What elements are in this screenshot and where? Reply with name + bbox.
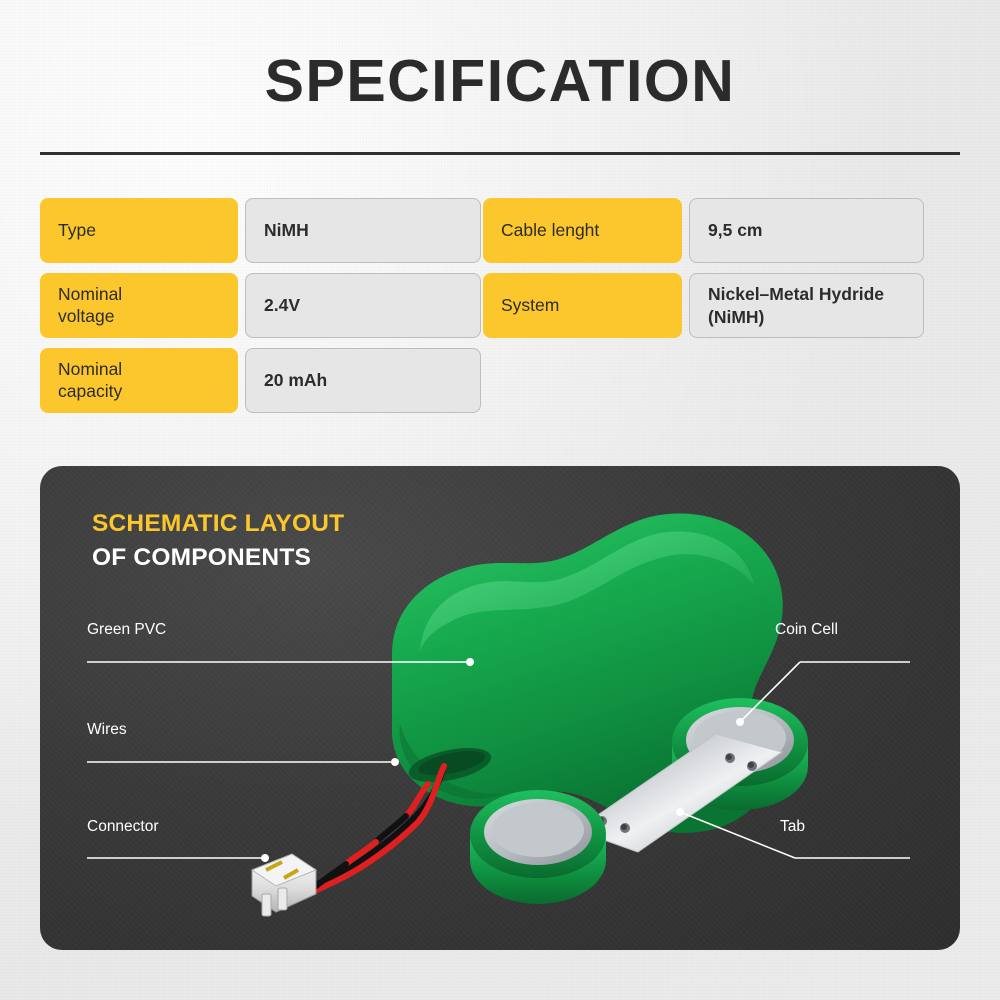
spec-label-system: System [483, 273, 682, 338]
spec-label-type: Type [40, 198, 238, 263]
spec-label-nominal-voltage: Nominal voltage [40, 273, 238, 338]
callout-label-coin-cell: Coin Cell [775, 621, 838, 639]
spec-value-nominal-capacity: 20 mAh [245, 348, 481, 413]
callout-label-tab: Tab [780, 818, 805, 836]
spec-value-system: Nickel–Metal Hydride (NiMH) [689, 273, 924, 338]
callout-label-green-pvc: Green PVC [87, 621, 166, 639]
title-divider [40, 152, 960, 155]
callout-label-connector: Connector [87, 818, 159, 836]
spec-label-nominal-capacity: Nominal capacity [40, 348, 238, 413]
table-row: Nominal capacity 20 mAh [40, 348, 481, 413]
schematic-panel: SCHEMATIC LAYOUT OF COMPONENTS [40, 466, 960, 950]
callout-label-wires: Wires [87, 721, 127, 739]
spec-column-left: Type NiMH Nominal voltage 2.4V Nominal c… [40, 198, 481, 423]
specification-page: SPECIFICATION Type NiMH Nominal voltage … [0, 0, 1000, 1000]
spec-value-type: NiMH [245, 198, 481, 263]
page-title: SPECIFICATION [0, 47, 1000, 115]
spec-value-nominal-voltage: 2.4V [245, 273, 481, 338]
table-row: Type NiMH [40, 198, 481, 263]
table-row: Nominal voltage 2.4V [40, 273, 481, 338]
callout-leader-lines [40, 466, 960, 950]
spec-value-cable-length: 9,5 cm [689, 198, 924, 263]
spec-column-right: Cable lenght 9,5 cm System Nickel–Metal … [483, 198, 924, 348]
table-row: Cable lenght 9,5 cm [483, 198, 924, 263]
spec-label-cable-length: Cable lenght [483, 198, 682, 263]
table-row: System Nickel–Metal Hydride (NiMH) [483, 273, 924, 338]
